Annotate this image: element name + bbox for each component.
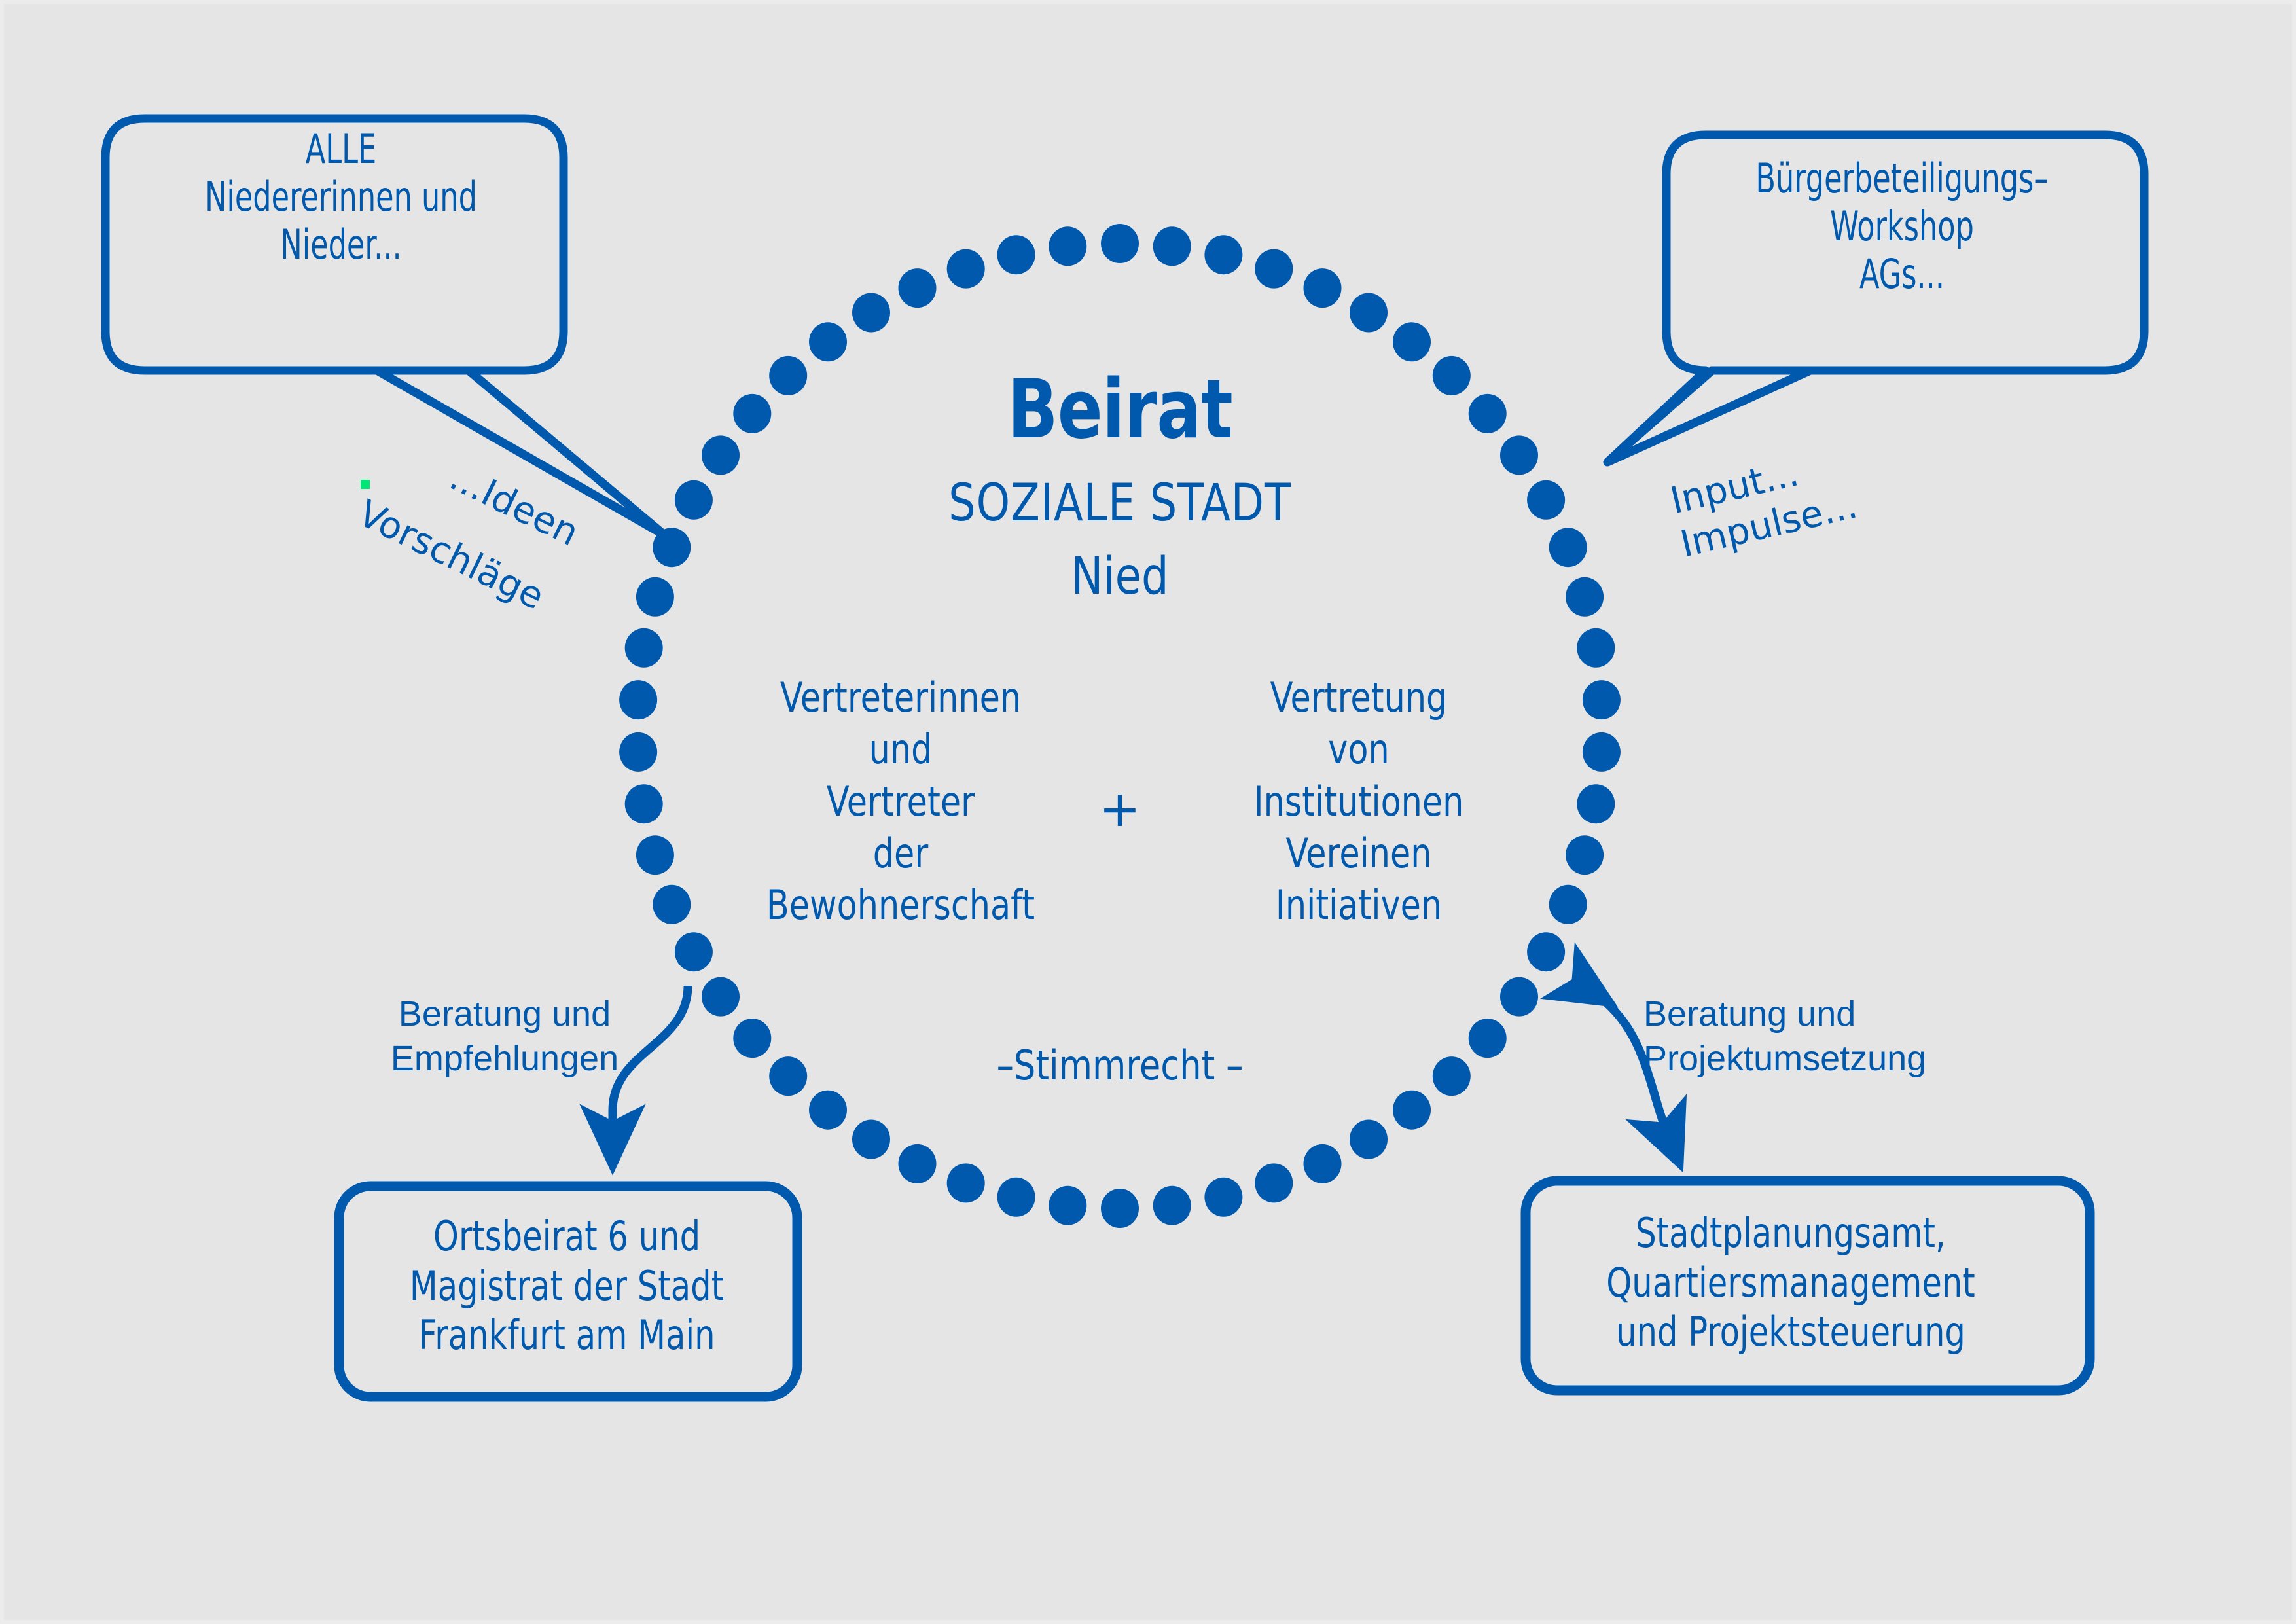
ring-dot <box>1204 1178 1242 1217</box>
ring-dot <box>619 680 657 719</box>
ring-dot <box>625 628 663 668</box>
ring-dot <box>1549 885 1587 924</box>
ring-dot <box>1527 480 1565 520</box>
ring-dot <box>1350 1120 1388 1159</box>
ring-dot <box>1469 1019 1507 1058</box>
ring-dot <box>1049 1186 1086 1225</box>
ring-dot <box>1500 977 1538 1017</box>
ring-dot <box>1583 680 1621 719</box>
ring-dot <box>852 1120 890 1159</box>
box-bottom-right-text: Stadtplanungsamt, Quartiersmanagement un… <box>1542 1208 2039 1357</box>
ring-dot <box>1566 835 1604 875</box>
ring-dot <box>1153 1186 1191 1225</box>
ring-dot <box>809 322 847 361</box>
speech-bubble-top-left-text: ALLE Niedererinnen und Nieder... <box>150 125 532 268</box>
ring-dot <box>619 732 657 772</box>
ring-dot <box>997 1178 1035 1217</box>
ring-dot <box>702 435 740 475</box>
ring-dot <box>733 394 771 433</box>
ring-dot <box>899 268 937 308</box>
ring-dot <box>1204 235 1242 274</box>
ring-dot <box>1433 1056 1471 1096</box>
ring-dot <box>1393 1091 1431 1130</box>
ring-dot <box>997 235 1035 274</box>
center-left-column: Vertreterinnen und Vertreter der Bewohne… <box>702 672 1100 931</box>
ring-dot <box>809 1091 847 1130</box>
ring-dot <box>675 932 713 971</box>
ring-dot <box>1255 249 1293 289</box>
ring-dot <box>1583 732 1621 772</box>
ring-dot <box>1566 577 1604 617</box>
ring-dot <box>733 1019 771 1058</box>
ring-dot <box>636 835 674 875</box>
center-title: Beirat <box>852 363 1388 457</box>
ring-dot <box>947 249 985 289</box>
ring-dot <box>769 1056 807 1096</box>
ring-dot <box>1500 435 1538 475</box>
ring-dot <box>653 885 691 924</box>
center-subtitle-line2: Nied <box>845 547 1395 606</box>
ring-dot <box>1153 226 1191 266</box>
ring-dot <box>1469 394 1507 433</box>
ring-dot <box>1549 528 1587 567</box>
ring-dot <box>1350 293 1388 333</box>
ring-dot <box>702 977 740 1017</box>
plus-operator: + <box>1081 780 1159 838</box>
ring-dot <box>1393 322 1431 361</box>
ring-dot <box>899 1144 937 1183</box>
ring-dot <box>1527 932 1565 971</box>
stimmrecht-note: –Stimmrecht – <box>925 1041 1315 1089</box>
ring-dot <box>947 1163 985 1202</box>
ring-dot <box>1101 1189 1139 1228</box>
ring-dot <box>1101 224 1139 263</box>
ring-dot <box>1255 1163 1293 1202</box>
ring-dot <box>1577 784 1615 823</box>
ring-dot <box>1577 628 1615 668</box>
ring-dot <box>1049 226 1086 266</box>
ring-dot <box>636 577 674 617</box>
ring-dot <box>675 480 713 520</box>
ring-dot <box>625 784 663 823</box>
ring-dot <box>1304 268 1342 308</box>
diagram-canvas: ALLE Niedererinnen und Nieder... Bürgerb… <box>0 0 2296 1624</box>
center-subtitle-line1: SOZIALE STADT <box>845 474 1395 533</box>
speech-bubble-top-right-text: Bürgerbeteiligungs– Workshop AGs... <box>1698 154 2106 298</box>
green-artifact-dot <box>361 480 370 489</box>
box-bottom-left-text: Ortsbeirat 6 und Magistrat der Stadt Fra… <box>352 1212 781 1360</box>
label-beratung-empfehlungen: Beratung und Empfehlungen <box>367 992 642 1081</box>
ring-dot <box>769 356 807 395</box>
ring-dot <box>1304 1144 1342 1183</box>
ring-dot <box>1433 356 1471 395</box>
center-right-column: Vertretung von Institutionen Vereinen In… <box>1193 672 1525 931</box>
ring-dot <box>852 293 890 333</box>
label-beratung-projektumsetzung: Beratung und Projektumsetzung <box>1643 992 1984 1081</box>
